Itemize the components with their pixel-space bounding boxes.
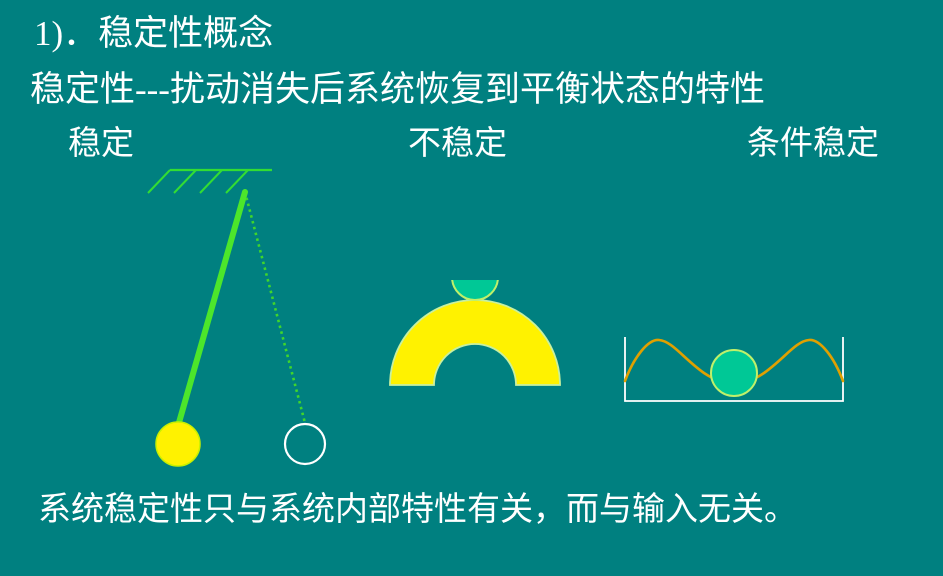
pendulum-ghost-bob [285, 424, 325, 464]
ceiling-hatch-icon [148, 170, 248, 193]
pendulum-rod [178, 192, 245, 426]
arch-svg [380, 280, 570, 395]
valley-svg [612, 325, 857, 415]
page-title: 1)．稳定性概念 [34, 16, 273, 51]
pendulum-bob [156, 422, 200, 466]
arch-diagram [380, 280, 570, 400]
pendulum-svg [140, 160, 370, 490]
label-stable: 稳定 [68, 128, 134, 161]
valley-ball [711, 350, 757, 396]
arch-shape [390, 300, 560, 385]
valley-diagram [612, 325, 857, 420]
pendulum-rest-string [245, 192, 305, 423]
definition-text: 稳定性---扰动消失后系统恢复到平衡状态的特性 [30, 72, 765, 107]
footer-text: 系统稳定性只与系统内部特性有关，而与输入无关。 [38, 494, 797, 527]
label-unstable: 不稳定 [408, 128, 507, 161]
pendulum-diagram [140, 160, 370, 495]
label-conditional: 条件稳定 [747, 128, 879, 161]
slide-canvas: 1)．稳定性概念 稳定性---扰动消失后系统恢复到平衡状态的特性 稳定 不稳定 … [0, 0, 943, 576]
arch-ball [452, 280, 498, 300]
